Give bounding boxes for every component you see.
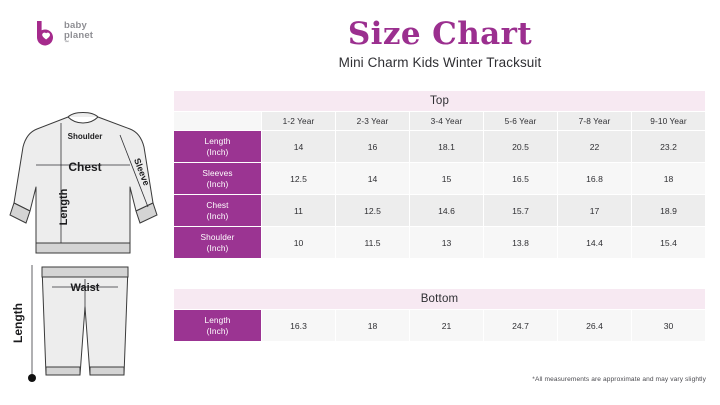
- col-header-9-10-year: 9-10 Year: [632, 112, 706, 131]
- cell-bottom-length-3-4: 21: [410, 310, 484, 342]
- table-row: Length (Inch) 14 16 18.1 20.5 22 23.2: [174, 131, 706, 163]
- cell-sleeves-2-3: 14: [336, 163, 410, 195]
- table-row: Sleeves (Inch) 12.5 14 15 16.5 16.8 18: [174, 163, 706, 195]
- row-label-chest: Chest (Inch): [174, 195, 262, 227]
- cell-bottom-length-2-3: 18: [336, 310, 410, 342]
- cell-bottom-length-9-10: 30: [632, 310, 706, 342]
- col-header-1-2-year: 1-2 Year: [262, 112, 336, 131]
- cell-length-9-10: 23.2: [632, 131, 706, 163]
- section-band-row: Top: [174, 91, 706, 112]
- col-header-3-4-year: 3-4 Year: [410, 112, 484, 131]
- col-header-2-3-year: 2-3 Year: [336, 112, 410, 131]
- brand-wordmark: baby planet™: [64, 21, 93, 46]
- cell-chest-2-3: 12.5: [336, 195, 410, 227]
- cell-sleeves-9-10: 18: [632, 163, 706, 195]
- cell-length-1-2: 14: [262, 131, 336, 163]
- cell-sleeves-7-8: 16.8: [558, 163, 632, 195]
- cell-chest-1-2: 11: [262, 195, 336, 227]
- cell-bottom-length-5-6: 24.7: [484, 310, 558, 342]
- cell-sleeves-1-2: 12.5: [262, 163, 336, 195]
- row-label-shoulder: Shoulder (Inch): [174, 227, 262, 259]
- corner-cell: [174, 112, 262, 131]
- label-chest: Chest: [68, 160, 101, 174]
- page-title: Size Chart: [170, 16, 710, 52]
- cell-shoulder-2-3: 11.5: [336, 227, 410, 259]
- page-subtitle: Mini Charm Kids Winter Tracksuit: [170, 55, 710, 70]
- cell-shoulder-9-10: 15.4: [632, 227, 706, 259]
- cell-chest-7-8: 17: [558, 195, 632, 227]
- size-table-bottom: Bottom Length (Inch) 16.3 18 21 24.7 26.…: [173, 288, 706, 342]
- label-bottom-length: Length: [11, 303, 25, 343]
- col-header-5-6-year: 5-6 Year: [484, 112, 558, 131]
- cell-shoulder-1-2: 10: [262, 227, 336, 259]
- size-table-top: Top 1-2 Year 2-3 Year 3-4 Year 5-6 Year …: [173, 90, 706, 259]
- cell-sleeves-5-6: 16.5: [484, 163, 558, 195]
- table-row: Chest (Inch) 11 12.5 14.6 15.7 17 18.9: [174, 195, 706, 227]
- section-title-top: Top: [174, 91, 706, 112]
- tracksuit-svg: Shoulder Chest Length Sleeve Waist Lengt…: [8, 95, 168, 390]
- label-top-length: Length: [58, 188, 70, 225]
- cell-sleeves-3-4: 15: [410, 163, 484, 195]
- cell-shoulder-5-6: 13.8: [484, 227, 558, 259]
- cell-chest-5-6: 15.7: [484, 195, 558, 227]
- cell-chest-9-10: 18.9: [632, 195, 706, 227]
- section-band-row: Bottom: [174, 289, 706, 310]
- brand-logo: baby planet™: [34, 20, 93, 48]
- cell-length-5-6: 20.5: [484, 131, 558, 163]
- section-title-bottom: Bottom: [174, 289, 706, 310]
- cell-bottom-length-1-2: 16.3: [262, 310, 336, 342]
- table-row: Length (Inch) 16.3 18 21 24.7 26.4 30: [174, 310, 706, 342]
- measurement-disclaimer: *All measurements are approximate and ma…: [532, 376, 706, 383]
- col-header-7-8-year: 7-8 Year: [558, 112, 632, 131]
- brand-name-line2: planet™: [64, 31, 93, 46]
- cell-shoulder-7-8: 14.4: [558, 227, 632, 259]
- tracksuit-diagram: Shoulder Chest Length Sleeve Waist Lengt…: [8, 95, 168, 390]
- column-header-row: 1-2 Year 2-3 Year 3-4 Year 5-6 Year 7-8 …: [174, 112, 706, 131]
- cell-bottom-length-7-8: 26.4: [558, 310, 632, 342]
- cell-shoulder-3-4: 13: [410, 227, 484, 259]
- cell-length-2-3: 16: [336, 131, 410, 163]
- row-label-length: Length (Inch): [174, 131, 262, 163]
- cell-length-7-8: 22: [558, 131, 632, 163]
- row-label-sleeves: Sleeves (Inch): [174, 163, 262, 195]
- cell-length-3-4: 18.1: [410, 131, 484, 163]
- baby-planet-logo-icon: [34, 20, 58, 48]
- label-waist: Waist: [71, 282, 100, 294]
- label-shoulder: Shoulder: [68, 132, 103, 141]
- table-row: Shoulder (Inch) 10 11.5 13 13.8 14.4 15.…: [174, 227, 706, 259]
- row-label-bottom-length: Length (Inch): [174, 310, 262, 342]
- cell-chest-3-4: 14.6: [410, 195, 484, 227]
